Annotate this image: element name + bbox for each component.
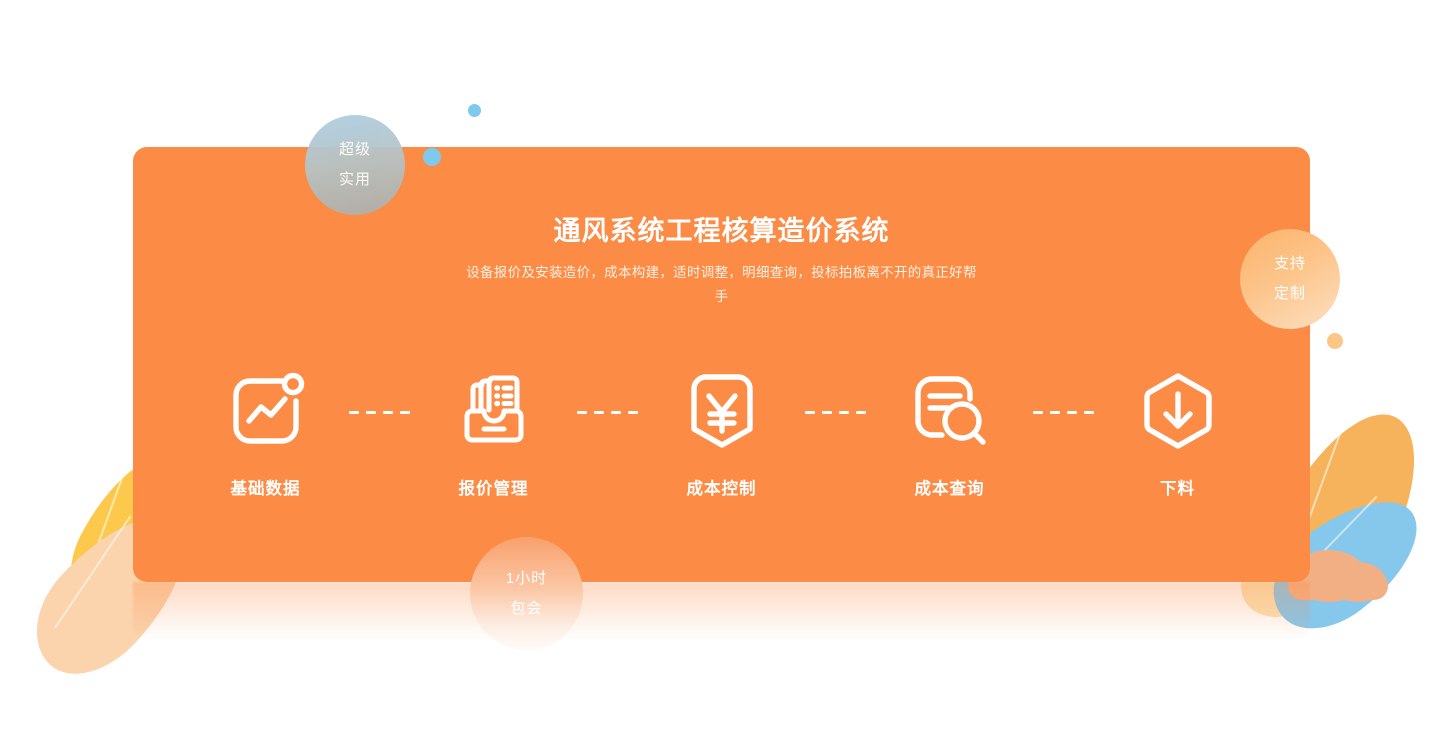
feature-label: 报价管理	[459, 475, 529, 499]
dot-blue-large	[423, 148, 441, 166]
document-search-icon	[908, 369, 992, 453]
badge-line-2: 实用	[339, 165, 371, 195]
page-subtitle: 设备报价及安装造价，成本构建，适时调整，明细查询，投标拍板离不开的真正好帮手	[462, 261, 982, 309]
badge-supports-customization[interactable]: 支持 定制	[1240, 229, 1340, 329]
feature-label: 基础数据	[231, 475, 301, 499]
feature-label: 成本控制	[687, 475, 757, 499]
feature-list: 基础数据	[133, 369, 1310, 499]
badge-line-2: 定制	[1274, 279, 1306, 309]
card-shadow-glow	[133, 582, 1310, 640]
feature-item-basic-data[interactable]: 基础数据	[190, 369, 342, 499]
connector-dashes-4	[1026, 411, 1102, 414]
inbox-documents-icon	[452, 369, 536, 453]
badge-line-2: 包会	[510, 594, 542, 624]
badge-line-1: 支持	[1274, 249, 1306, 279]
feature-item-material-cutting[interactable]: 下料	[1102, 369, 1254, 499]
yuan-shield-icon	[680, 369, 764, 453]
feature-label: 成本查询	[915, 475, 985, 499]
promo-banner: 通风系统工程核算造价系统 设备报价及安装造价，成本构建，适时调整，明细查询，投标…	[0, 0, 1440, 730]
connector-dashes-3	[798, 411, 874, 414]
badge-super-practical[interactable]: 超级 实用	[305, 115, 405, 215]
dot-orange	[1327, 333, 1343, 349]
connector-dashes-1	[342, 411, 418, 414]
badge-one-hour-guarantee[interactable]: 1小时 包会	[470, 537, 583, 650]
dot-blue-small	[468, 104, 481, 117]
connector-dashes-2	[570, 411, 646, 414]
feature-item-cost-control[interactable]: 成本控制	[646, 369, 798, 499]
hexagon-download-icon	[1136, 369, 1220, 453]
badge-line-1: 超级	[339, 135, 371, 165]
feature-item-cost-query[interactable]: 成本查询	[874, 369, 1026, 499]
chart-square-icon	[224, 369, 308, 453]
feature-label: 下料	[1160, 475, 1195, 499]
badge-line-1: 1小时	[506, 564, 547, 594]
feature-item-quote-management[interactable]: 报价管理	[418, 369, 570, 499]
orange-feature-card: 通风系统工程核算造价系统 设备报价及安装造价，成本构建，适时调整，明细查询，投标…	[133, 147, 1310, 582]
page-title: 通风系统工程核算造价系统	[133, 209, 1310, 248]
